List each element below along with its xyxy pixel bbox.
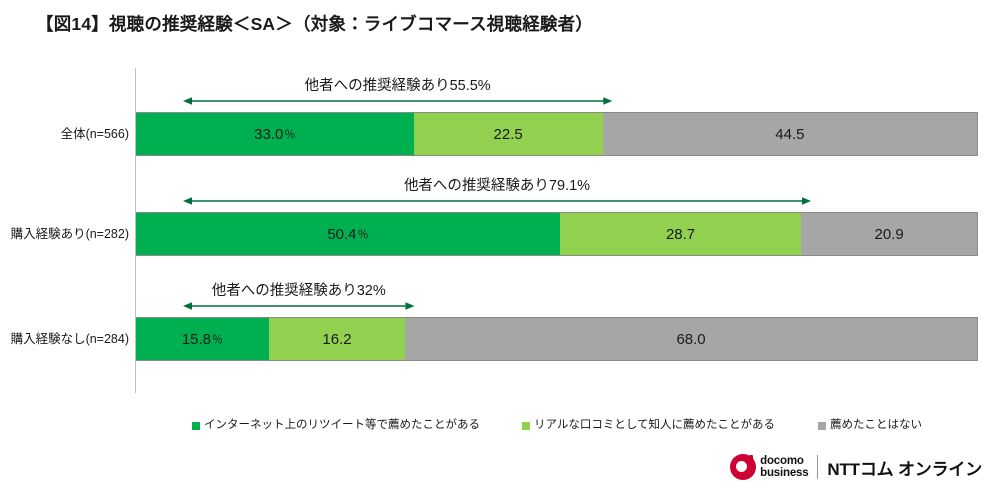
chart-plot-area: 全体(n=566)33.0％22.544.5購入経験あり(n=282)50.4％…: [0, 60, 1000, 400]
bar-value-label: 44.5: [775, 126, 804, 143]
legend-label: インターネット上のリツイート等で薦めたことがある: [204, 420, 480, 432]
legend-item: リアルな口コミとして知人に薦めたことがある: [522, 420, 775, 432]
legend-swatch-icon: [522, 422, 530, 430]
bar-segment: 28.7: [560, 213, 801, 255]
double-arrow-icon: [183, 301, 414, 311]
bar-value-label: 20.9: [875, 226, 904, 243]
legend-swatch-icon: [818, 422, 826, 430]
logo-divider: [817, 455, 818, 479]
page-title: 【図14】視聴の推奨経験＜SA＞（対象：ライブコマース視聴経験者）: [36, 11, 593, 36]
bar-value-label: 68.0: [676, 331, 705, 348]
category-label: 購入経験なし(n=284): [0, 333, 129, 346]
bar-segment: 44.5: [603, 113, 977, 155]
bar-segment: 15.8％: [136, 318, 269, 360]
brand-name: NTTコム オンライン: [827, 455, 982, 480]
double-arrow-icon: [183, 96, 612, 106]
bar-value-label: 15.8: [182, 331, 211, 348]
bar-segment: 68.0: [405, 318, 977, 360]
double-arrow-icon: [183, 196, 811, 206]
chart-legend: インターネット上のリツイート等で薦めたことがあるリアルな口コミとして知人に薦めた…: [0, 418, 1000, 438]
bar-value-unit: ％: [284, 126, 295, 142]
bar-value-label: 16.2: [322, 331, 351, 348]
stacked-bar: 50.4％28.720.9: [136, 212, 978, 256]
legend-item: インターネット上のリツイート等で薦めたことがある: [192, 420, 480, 432]
category-label: 全体(n=566): [0, 128, 129, 141]
bar-segment: 33.0％: [136, 113, 414, 155]
stacked-bar: 33.0％22.544.5: [136, 112, 978, 156]
category-label: 購入経験あり(n=282): [0, 228, 129, 241]
legend-label: リアルな口コミとして知人に薦めたことがある: [534, 420, 775, 432]
bar-value-unit: ％: [358, 226, 369, 242]
footer-logo: docomo business NTTコム オンライン: [730, 450, 982, 484]
bar-value-label: 33.0: [254, 126, 283, 143]
docomo-business-wordmark: docomo business: [760, 455, 808, 479]
legend-label: 薦めたことはない: [830, 420, 922, 432]
bar-value-unit: ％: [212, 331, 223, 347]
docomo-d-icon: [730, 454, 756, 480]
bar-value-label: 22.5: [494, 126, 523, 143]
annotation-label: 他者への推奨経験あり79.1%: [404, 174, 590, 195]
logo-line-1: docomo: [760, 455, 808, 467]
bar-value-label: 28.7: [666, 226, 695, 243]
chart-page: 【図14】視聴の推奨経験＜SA＞（対象：ライブコマース視聴経験者） 全体(n=5…: [0, 0, 1000, 496]
stacked-bar: 15.8％16.268.0: [136, 317, 978, 361]
annotation-label: 他者への推奨経験あり55.5%: [305, 74, 491, 95]
annotation-label: 他者への推奨経験あり32%: [212, 279, 386, 300]
bar-segment: 16.2: [269, 318, 405, 360]
bar-value-label: 50.4: [327, 226, 356, 243]
logo-line-2: business: [760, 467, 808, 479]
legend-swatch-icon: [192, 422, 200, 430]
bar-segment: 50.4％: [136, 213, 560, 255]
bar-segment: 20.9: [801, 213, 977, 255]
bar-segment: 22.5: [414, 113, 603, 155]
legend-item: 薦めたことはない: [818, 420, 922, 432]
